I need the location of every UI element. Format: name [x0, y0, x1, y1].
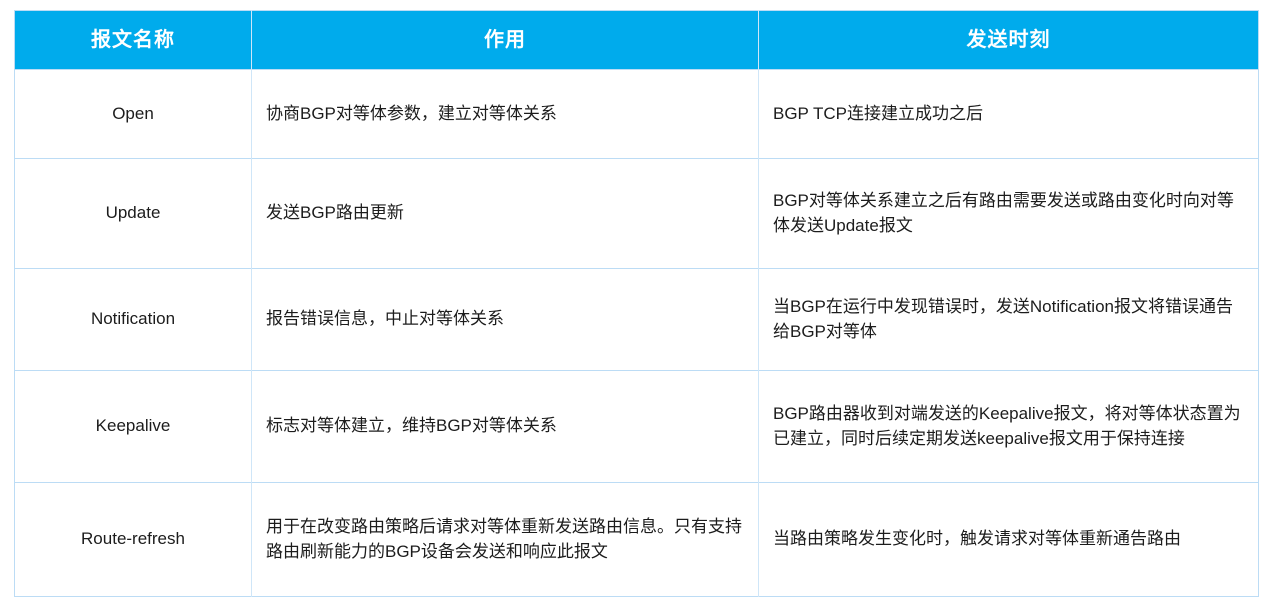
- cell-message-name: Update: [15, 159, 252, 269]
- cell-message-name: Notification: [15, 269, 252, 371]
- cell-send-time: BGP TCP连接建立成功之后: [759, 70, 1259, 159]
- cell-message-name: Open: [15, 70, 252, 159]
- role-update: 发送BGP路由更新: [266, 201, 744, 226]
- role-notification: 报告错误信息，中止对等体关系: [266, 307, 744, 332]
- message-name-notification: Notification: [21, 307, 245, 332]
- message-name-open: Open: [21, 102, 245, 127]
- role-route-refresh: 用于在改变路由策略后请求对等体重新发送路由信息。只有支持路由刷新能力的BGP设备…: [266, 515, 744, 564]
- send-time-update: BGP对等体关系建立之后有路由需要发送或路由变化时向对等体发送Update报文: [773, 189, 1244, 238]
- send-time-keepalive: BGP路由器收到对端发送的Keepalive报文，将对等体状态置为已建立，同时后…: [773, 402, 1244, 451]
- bgp-message-table: 报文名称 作用 发送时刻 Open 协商BGP对等体参数，建立对等体关系 BGP…: [14, 10, 1259, 597]
- send-time-open: BGP TCP连接建立成功之后: [773, 102, 1244, 127]
- message-name-keepalive: Keepalive: [21, 414, 245, 439]
- message-name-route-refresh: Route-refresh: [21, 527, 245, 552]
- role-keepalive: 标志对等体建立，维持BGP对等体关系: [266, 414, 744, 439]
- cell-role: 发送BGP路由更新: [252, 159, 759, 269]
- column-header-message-name: 报文名称: [15, 11, 252, 70]
- table-row: Keepalive 标志对等体建立，维持BGP对等体关系 BGP路由器收到对端发…: [15, 371, 1259, 483]
- table-row: Route-refresh 用于在改变路由策略后请求对等体重新发送路由信息。只有…: [15, 483, 1259, 597]
- cell-send-time: BGP路由器收到对端发送的Keepalive报文，将对等体状态置为已建立，同时后…: [759, 371, 1259, 483]
- cell-send-time: BGP对等体关系建立之后有路由需要发送或路由变化时向对等体发送Update报文: [759, 159, 1259, 269]
- table-row: Open 协商BGP对等体参数，建立对等体关系 BGP TCP连接建立成功之后: [15, 70, 1259, 159]
- cell-role: 标志对等体建立，维持BGP对等体关系: [252, 371, 759, 483]
- cell-message-name: Route-refresh: [15, 483, 252, 597]
- message-name-update: Update: [21, 201, 245, 226]
- role-open: 协商BGP对等体参数，建立对等体关系: [266, 102, 744, 127]
- cell-role: 协商BGP对等体参数，建立对等体关系: [252, 70, 759, 159]
- table-body: Open 协商BGP对等体参数，建立对等体关系 BGP TCP连接建立成功之后 …: [15, 70, 1259, 597]
- table-row: Update 发送BGP路由更新 BGP对等体关系建立之后有路由需要发送或路由变…: [15, 159, 1259, 269]
- cell-send-time: 当路由策略发生变化时，触发请求对等体重新通告路由: [759, 483, 1259, 597]
- cell-message-name: Keepalive: [15, 371, 252, 483]
- table-header: 报文名称 作用 发送时刻: [15, 11, 1259, 70]
- cell-role: 报告错误信息，中止对等体关系: [252, 269, 759, 371]
- bgp-message-table-container: 报文名称 作用 发送时刻 Open 协商BGP对等体参数，建立对等体关系 BGP…: [14, 10, 1258, 597]
- send-time-notification: 当BGP在运行中发现错误时，发送Notification报文将错误通告给BGP对…: [773, 295, 1244, 344]
- cell-send-time: 当BGP在运行中发现错误时，发送Notification报文将错误通告给BGP对…: [759, 269, 1259, 371]
- table-header-row: 报文名称 作用 发送时刻: [15, 11, 1259, 70]
- page-root: 报文名称 作用 发送时刻 Open 协商BGP对等体参数，建立对等体关系 BGP…: [0, 0, 1273, 506]
- column-header-send-time: 发送时刻: [759, 11, 1259, 70]
- cell-role: 用于在改变路由策略后请求对等体重新发送路由信息。只有支持路由刷新能力的BGP设备…: [252, 483, 759, 597]
- send-time-route-refresh: 当路由策略发生变化时，触发请求对等体重新通告路由: [773, 527, 1244, 552]
- column-header-role: 作用: [252, 11, 759, 70]
- table-row: Notification 报告错误信息，中止对等体关系 当BGP在运行中发现错误…: [15, 269, 1259, 371]
